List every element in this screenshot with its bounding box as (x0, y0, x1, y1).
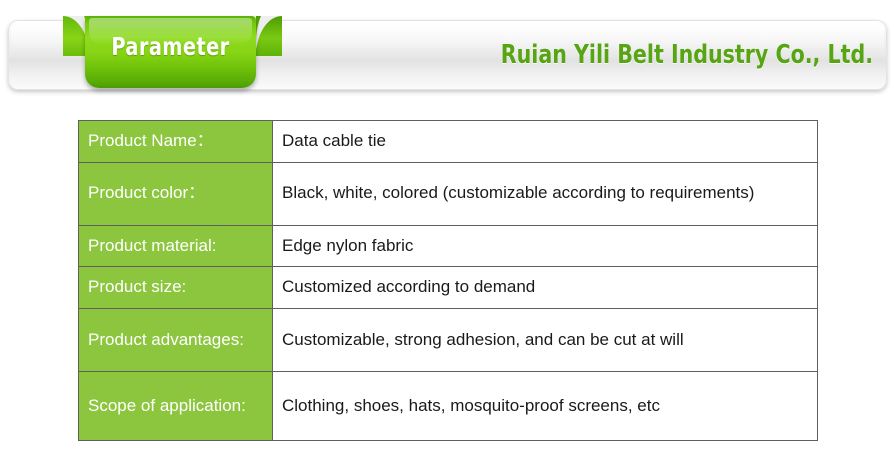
table-row: Scope of application: Clothing, shoes, h… (79, 371, 818, 440)
product-parameter-table: Product Name： Data cable tie Product col… (78, 120, 818, 441)
page-header: Parameter Ruian Yili Belt Industry Co., … (8, 20, 887, 92)
table-row: Product Name： Data cable tie (79, 121, 818, 163)
param-value-product-material: Edge nylon fabric (273, 225, 818, 267)
param-label-scope-of-application: Scope of application: (79, 371, 273, 440)
param-label-product-size: Product size: (79, 267, 273, 309)
param-value-product-color: Black, white, colored (customizable acco… (273, 162, 818, 225)
table-row: Product material: Edge nylon fabric (79, 225, 818, 267)
param-value-product-name: Data cable tie (273, 121, 818, 163)
table-row: Product size: Customized according to de… (79, 267, 818, 309)
table-row: Product advantages: Customizable, strong… (79, 308, 818, 371)
param-label-product-advantages: Product advantages: (79, 308, 273, 371)
param-value-product-advantages: Customizable, strong adhesion, and can b… (273, 308, 818, 371)
param-value-product-size: Customized according to demand (273, 267, 818, 309)
param-value-scope-of-application: Clothing, shoes, hats, mosquito-proof sc… (273, 371, 818, 440)
parameter-tab[interactable]: Parameter (63, 16, 278, 92)
table-row: Product color： Black, white, colored (cu… (79, 162, 818, 225)
param-label-product-material: Product material: (79, 225, 273, 267)
company-name-title: Ruian Yili Belt Industry Co., Ltd. (501, 20, 873, 90)
param-label-product-name: Product Name： (79, 121, 273, 163)
parameter-tab-label: Parameter (97, 16, 244, 78)
param-label-product-color: Product color： (79, 162, 273, 225)
tab-right-flare (256, 16, 282, 56)
